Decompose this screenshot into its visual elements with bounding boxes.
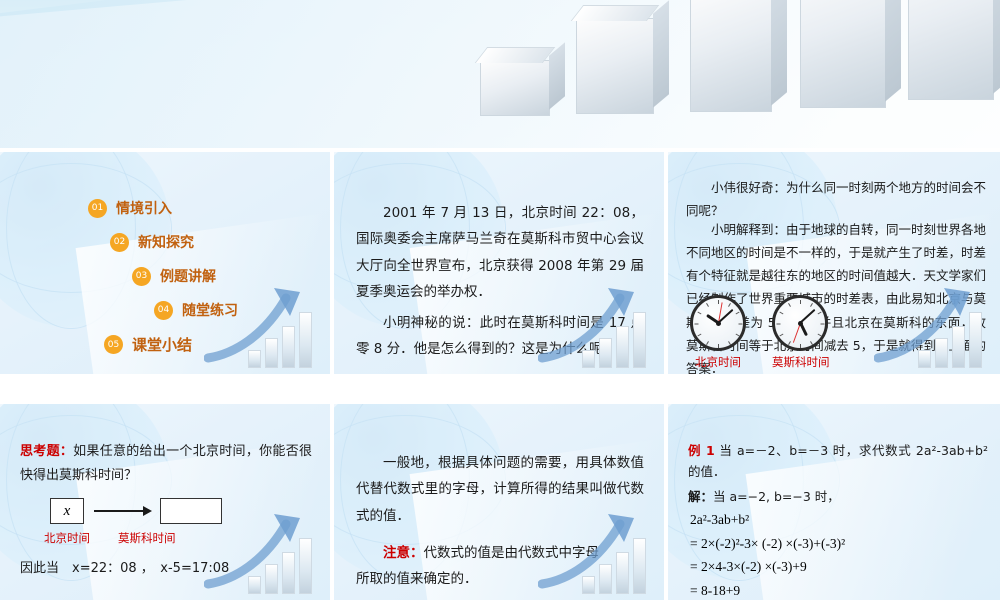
solution-line: = 2×(-2)²-3× (-2) ×(-3)+(-3)² — [690, 532, 990, 556]
bar-chart-decoration — [872, 282, 992, 374]
solution-tag: 解： — [688, 489, 713, 504]
clock-face — [690, 295, 746, 351]
thinking-question-panel: 思考题：如果任意的给出一个北京时间，你能否很快得出莫斯科时间？ x 北京时间 莫… — [0, 404, 330, 600]
agenda-panel: 01 情境引入 02 新知探究 03 例题讲解 04 随堂练习 05 课堂小结 — [0, 152, 330, 374]
explanation-paragraph-1: 小伟很好奇：为什么同一时刻两个地方的时间会不同呢？ — [686, 176, 986, 222]
banner-cube-3 — [690, 0, 772, 112]
transform-diagram: x — [50, 498, 222, 524]
solution-line: = 8-18+9 — [690, 579, 990, 600]
example-tag: 例 1 — [688, 443, 715, 458]
step-number-badge: 03 — [132, 267, 151, 286]
step-number-badge: 05 — [104, 335, 123, 354]
clock-moscow: 莫斯科时间 — [772, 295, 830, 370]
clock-label-moscow: 莫斯科时间 — [772, 354, 830, 370]
agenda-step-label: 课堂小结 — [132, 334, 192, 355]
solution-head: 解：当 a=−2, b=−3 时， — [688, 486, 988, 507]
growth-arrow-icon — [874, 284, 984, 364]
note-label: 注意： — [383, 545, 424, 561]
step-number-badge: 01 — [88, 199, 107, 218]
note-body: 所取的值来确定的． — [356, 571, 478, 587]
banner-cube-2 — [576, 18, 654, 114]
bar-chart-decoration — [202, 508, 322, 600]
example-statement: 例 1 当 a=－2、b=－3 时，求代数式 2a²-3ab+b² 的值． — [688, 440, 988, 483]
clock-center-pin — [716, 321, 721, 326]
clock-second-hand — [792, 323, 800, 343]
growth-arrow-icon — [204, 510, 314, 590]
clock-center-pin — [798, 321, 803, 326]
worked-example-panel: 例 1 当 a=－2、b=－3 时，求代数式 2a²-3ab+b² 的值． 解：… — [668, 404, 1000, 600]
explanation-panel: 小伟很好奇：为什么同一时刻两个地方的时间会不同呢？ 小明解释到：由于地球的自转，… — [668, 152, 1000, 374]
agenda-step-label: 情境引入 — [116, 198, 172, 218]
bar-chart-decoration — [202, 282, 322, 374]
growth-arrow-icon — [538, 284, 648, 364]
input-variable-box: x — [50, 498, 84, 524]
solution-substitution: 当 a=−2, b=−3 时， — [713, 489, 840, 504]
banner-cube-4 — [800, 0, 886, 108]
bar-chart-decoration — [536, 282, 656, 374]
agenda-step-2[interactable]: 02 新知探究 — [110, 232, 238, 252]
example-text: 当 a=－2、b=－3 时，求代数式 2a²-3ab+b² 的值． — [688, 443, 988, 479]
clock-face — [772, 295, 828, 351]
transform-diagram-labels: 北京时间 莫斯科时间 — [44, 530, 176, 546]
growth-arrow-icon — [538, 510, 648, 590]
label-moscow-time: 莫斯科时间 — [118, 530, 176, 546]
agenda-step-label: 新知探究 — [138, 232, 194, 252]
solution-steps: 2a²-3ab+b² = 2×(-2)²-3× (-2) ×(-3)+(-3)²… — [690, 508, 990, 600]
clock-beijing: 北京时间 — [690, 295, 746, 370]
thinking-question-text: 思考题：如果任意的给出一个北京时间，你能否很快得出莫斯科时间？ — [20, 440, 312, 488]
bar-chart-decoration — [536, 508, 656, 600]
clock-label-beijing: 北京时间 — [690, 354, 746, 370]
growth-arrow-icon — [204, 284, 314, 364]
label-beijing-time: 北京时间 — [44, 530, 90, 546]
banner-cube-1 — [480, 60, 550, 116]
thinking-question-title: 思考题： — [20, 444, 73, 459]
intro-story-panel: 2001 年 7 月 13 日，北京时间 22：08，国际奥委会主席萨马兰奇在莫… — [334, 152, 664, 374]
agenda-step-1[interactable]: 01 情境引入 — [88, 198, 238, 218]
definition-panel: 一般地，根据具体问题的需要，用具体数值代替代数式里的字母，计算所得的结果叫做代数… — [334, 404, 664, 600]
step-number-badge: 02 — [110, 233, 129, 252]
banner-cube-5 — [908, 0, 994, 100]
slide-page: 01 情境引入 02 新知探究 03 例题讲解 04 随堂练习 05 课堂小结 — [0, 0, 1000, 600]
right-arrow-icon — [94, 510, 150, 512]
solution-line: 2a²-3ab+b² — [690, 508, 990, 532]
banner-header — [0, 0, 1000, 148]
solution-line: = 2×4-3×(-2) ×(-3)+9 — [690, 555, 990, 579]
step-number-badge: 04 — [154, 301, 173, 320]
world-clocks: 北京时间 — [690, 295, 830, 370]
